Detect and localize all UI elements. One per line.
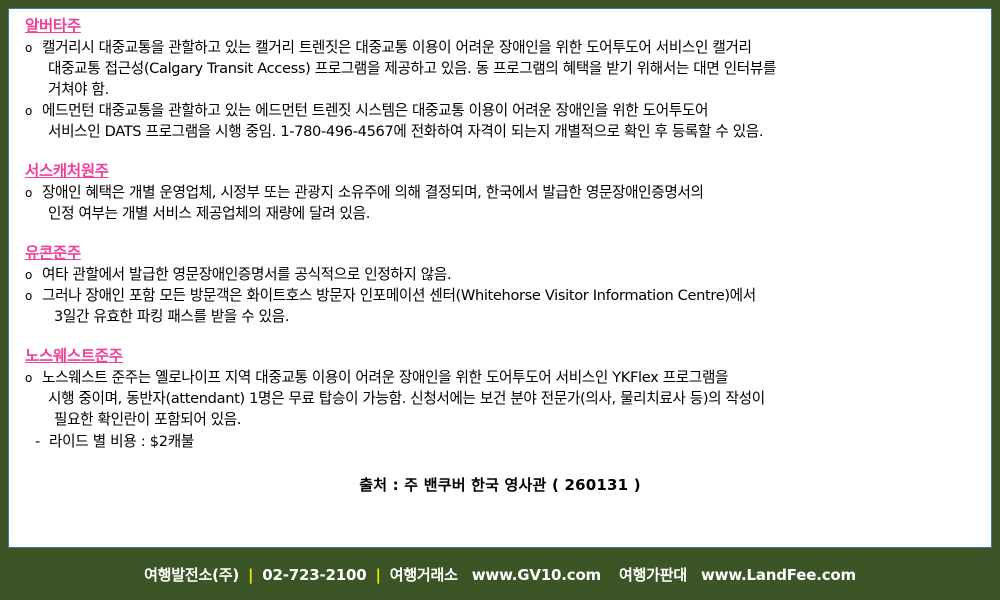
footer-company-name: 여행발전소(주) <box>144 564 239 585</box>
bullet-marker-icon: o <box>25 286 32 307</box>
bullet-line: 3일간 유효한 파킹 패스를 받을 수 있음. <box>42 307 977 328</box>
bullet-item: o 여타 관할에서 발급한 영문장애인증명서를 공식적으로 인정하지 않음. <box>23 265 977 286</box>
bullet-line: 시행 중이며, 동반자(attendant) 1명은 무료 탑승이 가능함. 신… <box>42 389 977 410</box>
footer-brand1-label: 여행거래소 <box>390 564 458 585</box>
section-alberta: 알버타주 o 캘거리시 대중교통을 관할하고 있는 캘거리 트렌짓은 대중교통 … <box>23 15 977 143</box>
bullet-item: o 노스웨스트 준주는 옐로나이프 지역 대중교통 이용이 어려운 장애인을 위… <box>23 368 977 431</box>
bullet-item: o 그러나 장애인 포함 모든 방문객은 화이트호스 방문자 인포메이션 센터(… <box>23 286 977 328</box>
bullet-line: 에드먼턴 대중교통을 관할하고 있는 에드먼턴 트렌짓 시스템은 대중교통 이용… <box>42 101 977 122</box>
bullet-item: o 장애인 혜택은 개별 운영업체, 시정부 또는 관광지 소유주에 의해 결정… <box>23 183 977 225</box>
section-spacer <box>23 330 977 345</box>
bullet-line: 거쳐야 함. <box>42 80 977 101</box>
bullet-line: 여타 관할에서 발급한 영문장애인증명서를 공식적으로 인정하지 않음. <box>42 265 977 286</box>
section-heading: 서스캐처원주 <box>25 160 109 182</box>
footer-content: 여행발전소(주) | 02-723-2100 | 여행거래소 www.GV10.… <box>144 564 856 585</box>
bullet-item: o 에드먼턴 대중교통을 관할하고 있는 에드먼턴 트렌짓 시스템은 대중교통 … <box>23 101 977 143</box>
bullet-line: 대중교통 접근성(Calgary Transit Access) 프로그램을 제… <box>42 59 977 80</box>
bullet-list: o 여타 관할에서 발급한 영문장애인증명서를 공식적으로 인정하지 않음. o… <box>23 265 977 328</box>
footer-separator: | <box>248 566 253 584</box>
section-saskatchewan: 서스캐처원주 o 장애인 혜택은 개별 운영업체, 시정부 또는 관광지 소유주… <box>23 160 977 225</box>
sub-bullet-item: - 라이드 별 비용 : $2캐불 <box>23 431 977 452</box>
bullet-line: 서비스인 DATS 프로그램을 시행 중임. 1-780-496-4567에 전… <box>42 122 977 143</box>
dash-marker-icon: - <box>35 431 40 452</box>
sub-bullet-line: 라이드 별 비용 : $2캐불 <box>49 433 194 450</box>
footer-separator: | <box>375 566 380 584</box>
section-spacer <box>23 145 977 160</box>
bullet-line: 노스웨스트 준주는 옐로나이프 지역 대중교통 이용이 어려운 장애인을 위한 … <box>42 368 977 389</box>
bullet-line: 인정 여부는 개별 서비스 제공업체의 재량에 달려 있음. <box>42 204 977 225</box>
bullet-marker-icon: o <box>25 101 32 122</box>
bullet-marker-icon: o <box>25 368 32 389</box>
footer-phone[interactable]: 02-723-2100 <box>262 566 366 584</box>
bullet-line: 필요한 확인란이 포함되어 있음. <box>42 410 977 431</box>
section-northwest-territories: 노스웨스트준주 o 노스웨스트 준주는 옐로나이프 지역 대중교통 이용이 어려… <box>23 345 977 452</box>
section-yukon: 유콘준주 o 여타 관할에서 발급한 영문장애인증명서를 공식적으로 인정하지 … <box>23 242 977 328</box>
content-card: 알버타주 o 캘거리시 대중교통을 관할하고 있는 캘거리 트렌짓은 대중교통 … <box>8 8 992 548</box>
section-heading: 노스웨스트준주 <box>25 345 123 367</box>
section-heading: 유콘준주 <box>25 242 81 264</box>
bullet-marker-icon: o <box>25 265 32 286</box>
bullet-marker-icon: o <box>25 38 32 59</box>
section-heading: 알버타주 <box>25 15 81 37</box>
source-attribution: 출처 : 주 밴쿠버 한국 영사관 ( 260131 ) <box>23 474 977 495</box>
bullet-list: o 장애인 혜택은 개별 운영업체, 시정부 또는 관광지 소유주에 의해 결정… <box>23 183 977 225</box>
bullet-marker-icon: o <box>25 183 32 204</box>
bullet-line: 장애인 혜택은 개별 운영업체, 시정부 또는 관광지 소유주에 의해 결정되며… <box>42 183 977 204</box>
footer-bar: 여행발전소(주) | 02-723-2100 | 여행거래소 www.GV10.… <box>0 548 1000 600</box>
bullet-line: 캘거리시 대중교통을 관할하고 있는 캘거리 트렌짓은 대중교통 이용이 어려운… <box>42 38 977 59</box>
bullet-item: o 캘거리시 대중교통을 관할하고 있는 캘거리 트렌짓은 대중교통 이용이 어… <box>23 38 977 101</box>
slide-root: 알버타주 o 캘거리시 대중교통을 관할하고 있는 캘거리 트렌짓은 대중교통 … <box>0 0 1000 600</box>
footer-brand1-url[interactable]: www.GV10.com <box>472 566 601 584</box>
bullet-list: o 노스웨스트 준주는 옐로나이프 지역 대중교통 이용이 어려운 장애인을 위… <box>23 368 977 452</box>
footer-brand2-label: 여행가판대 <box>619 564 687 585</box>
bullet-line: 그러나 장애인 포함 모든 방문객은 화이트호스 방문자 인포메이션 센터(Wh… <box>42 286 977 307</box>
bullet-list: o 캘거리시 대중교통을 관할하고 있는 캘거리 트렌짓은 대중교통 이용이 어… <box>23 38 977 142</box>
section-spacer <box>23 227 977 242</box>
footer-brand2-url[interactable]: www.LandFee.com <box>701 566 856 584</box>
